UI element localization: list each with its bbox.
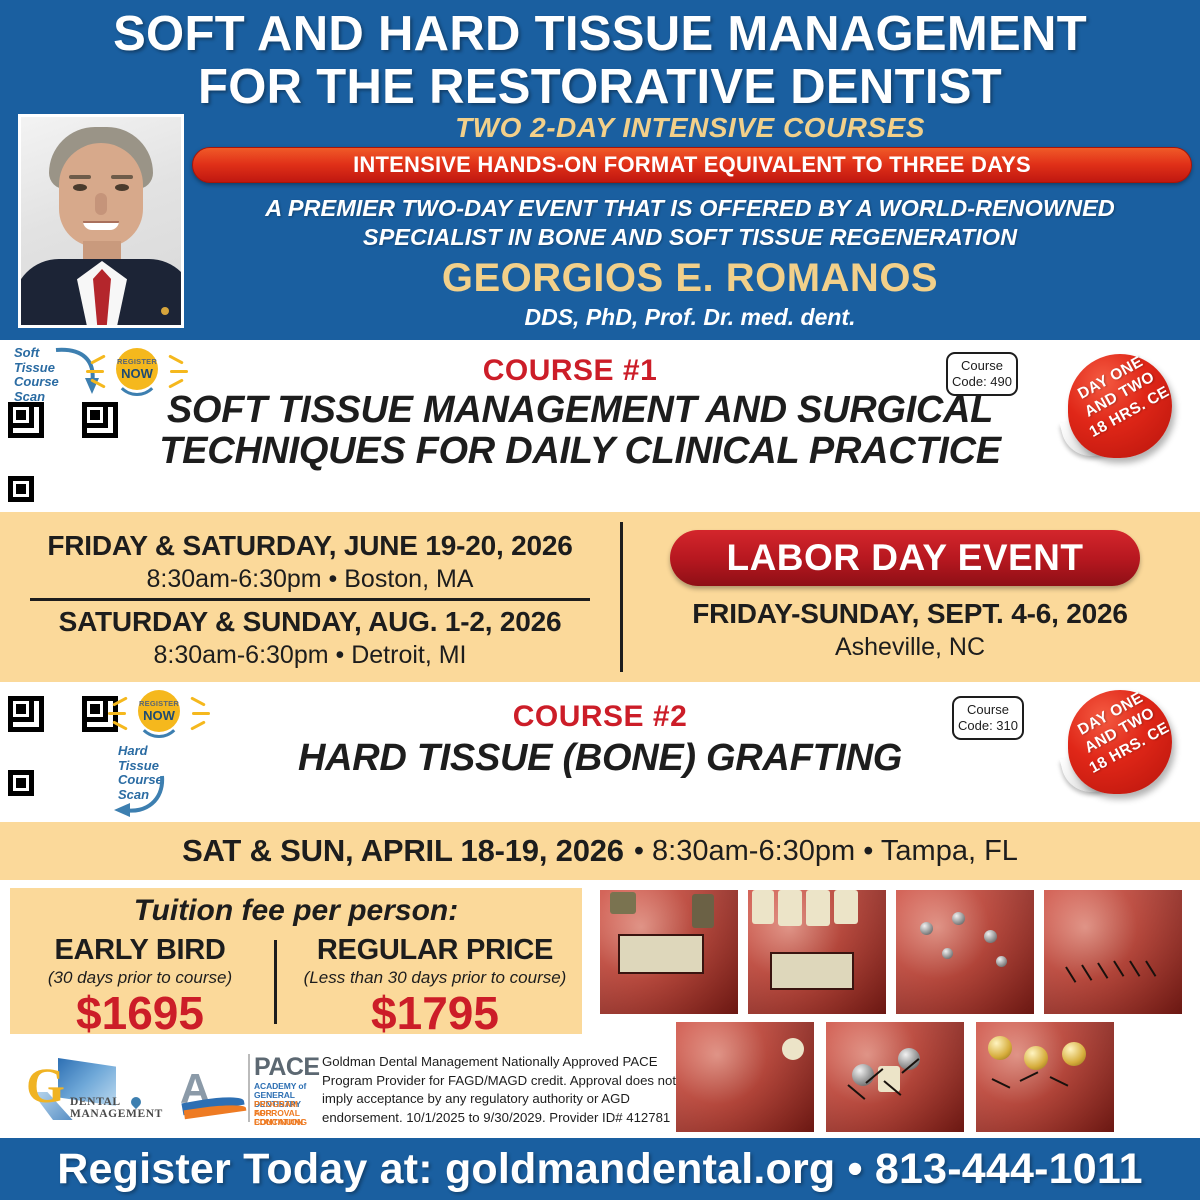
qr-matrix [8,696,108,796]
photo-tooth [752,890,774,924]
badge-swoosh [136,712,182,738]
photo-abutment [988,1036,1012,1060]
course-2-code-value: Code: 310 [958,718,1018,734]
pace-title: PACE [254,1055,320,1080]
register-today-bar[interactable]: Register Today at: goldmandental.org • 8… [0,1138,1200,1200]
pace-line-5: EDUCATION [254,1118,303,1127]
pace-divider [248,1054,250,1122]
speaker-name: GEORGIOS E. ROMANOS [190,256,1190,301]
early-bird-amount: $1695 [10,986,270,1040]
hands-on-format-badge: INTENSIVE HANDS-ON FORMAT EQUIVALENT TO … [192,147,1192,183]
regular-price-amount: $1795 [288,986,582,1040]
photo-fixation-screw [984,930,997,943]
course-2-code-box: Course Code: 310 [952,696,1024,740]
dates-divider-vertical [620,522,623,672]
photo-tooth [610,892,636,914]
date-entry-boston: FRIDAY & SATURDAY, JUNE 19-20, 2026 8:30… [0,530,620,594]
date-heading: FRIDAY & SATURDAY, JUNE 19-20, 2026 [0,530,620,562]
logo-letter-g: G [26,1060,65,1110]
register-label: REGISTER [117,358,157,366]
badge-ray [190,696,206,706]
labor-day-event-badge: LABOR DAY EVENT [670,530,1140,586]
tuition-title: Tuition fee per person: [10,894,582,928]
photo-brow-left [69,175,91,179]
qr-finder-core [90,704,100,714]
date-entry-detroit: SATURDAY & SUNDAY, AUG. 1-2, 2026 8:30am… [0,606,620,670]
photo-fixation-screw [996,956,1007,967]
photo-mouth [83,221,119,230]
photo-bone-graft [618,934,704,974]
photo-shading [896,890,1034,1014]
speaker-credentials: DDS, PhD, Prof. Dr. med. dent. [190,304,1190,331]
pace-logo: A PACE ACADEMY of GENERAL DENTISTRY PROG… [180,1054,312,1124]
flyer-root: SOFT AND HARD TISSUE MANAGEMENT FOR THE … [0,0,1200,1200]
goldman-dental-logo: G DENTAL MANAGEMENT [14,1056,164,1122]
clinical-photo-2 [748,890,886,1014]
date-detail: Asheville, NC [640,633,1180,662]
date-detail: • 8:30am-6:30pm • Tampa, FL [634,835,1018,868]
price-divider [274,940,277,1024]
photo-abutment [1024,1046,1048,1070]
photo-eye-right [115,184,129,191]
course-1-code-box: Course Code: 490 [946,352,1018,396]
date-detail: 8:30am-6:30pm • Detroit, MI [0,641,620,670]
course-2-ce-sticker: DAY ONE AND TWO 18 HRS. CE [1062,688,1180,812]
date-heading: SAT & SUN, APRIL 18-19, 2026 [182,833,624,869]
page-title: SOFT AND HARD TISSUE MANAGEMENT FOR THE … [0,8,1200,114]
early-bird-label: EARLY BIRD [10,934,270,967]
qr-finder-core [16,484,26,494]
photo-eye-left [73,184,87,191]
clinical-photo-4 [1044,890,1182,1014]
header-banner: SOFT AND HARD TISSUE MANAGEMENT FOR THE … [0,0,1200,340]
photo-tooth [782,1038,804,1060]
photo-fixation-screw [942,948,953,959]
regular-price-note: (Less than 30 days prior to course) [288,968,582,988]
photo-bone-graft [770,952,854,990]
course-2-section: REGISTER NOW Hard Tissue Course Scan COU… [0,682,1200,822]
photo-tooth [692,894,714,928]
header-subtitle: TWO 2-DAY INTENSIVE COURSES [190,112,1190,144]
course-2-code-label: Course [967,702,1009,718]
photo-lapel-pin [161,307,169,315]
course-2-qr-code[interactable] [8,696,108,796]
premier-text-line-1: A PREMIER TWO-DAY EVENT THAT IS OFFERED … [190,195,1190,222]
early-bird-price-block: EARLY BIRD (30 days prior to course) $16… [10,934,270,1040]
course-2-scan-arrow-icon [110,774,166,820]
course-1-dates-band: FRIDAY & SATURDAY, JUNE 19-20, 2026 8:30… [0,512,1200,682]
title-line-2: FOR THE RESTORATIVE DENTIST [0,61,1200,114]
photo-shading [1044,890,1182,1014]
photo-brow-right [111,175,133,179]
course-2-dates-band: SAT & SUN, APRIL 18-19, 2026 • 8:30am-6:… [0,822,1200,880]
qr-finder-core [16,778,26,788]
clinical-photo-7 [976,1022,1114,1132]
photo-implant [852,1064,874,1086]
course-1-number: COURSE #1 [200,354,940,388]
dates-divider-horizontal [30,598,590,601]
photo-fixation-screw [952,912,965,925]
badge-ray [168,354,184,364]
date-heading: SATURDAY & SUNDAY, AUG. 1-2, 2026 [0,606,620,638]
qr-finder-core [16,704,26,714]
register-label: REGISTER [139,700,179,708]
early-bird-note: (30 days prior to course) [10,968,270,988]
date-detail: 8:30am-6:30pm • Boston, MA [0,565,620,594]
logo-text-dental: DENTAL [70,1096,121,1108]
photo-abutment [1062,1042,1086,1066]
photo-tooth [834,890,858,924]
photo-fixation-screw [920,922,933,935]
clinical-photo-6 [826,1022,964,1132]
clinical-photo-3 [896,890,1034,1014]
photo-tooth [778,890,802,926]
tuition-card: Tuition fee per person: EARLY BIRD (30 d… [10,888,582,1034]
logo-tooth-icon [129,1095,143,1109]
date-entry-asheville: FRIDAY-SUNDAY, SEPT. 4-6, 2026 Asheville… [640,598,1180,662]
course-2-date-line: SAT & SUN, APRIL 18-19, 2026 • 8:30am-6:… [0,822,1200,880]
course-1-section: Soft Tissue Course Scan REGISTER NOW [0,340,1200,512]
course-2-title: HARD TISSUE (BONE) GRAFTING [240,738,960,779]
course-1-title: SOFT TISSUE MANAGEMENT AND SURGICAL TECH… [150,390,1010,472]
photo-nose [95,193,107,215]
premier-text-line-2: SPECIALIST IN BONE AND SOFT TISSUE REGEN… [190,224,1190,251]
course-1-code-label: Course [961,358,1003,374]
badge-ray [168,378,184,388]
course-1-title-line-1: SOFT TISSUE MANAGEMENT AND SURGICAL [150,390,1010,431]
qr-matrix [8,402,108,502]
course-2-number: COURSE #2 [240,700,960,734]
course-1-code-value: Code: 490 [952,374,1012,390]
regular-price-block: REGULAR PRICE (Less than 30 days prior t… [288,934,582,1040]
badge-ray [190,720,206,730]
badge-ray [170,370,188,373]
regular-price-label: REGULAR PRICE [288,934,582,967]
date-heading: FRIDAY-SUNDAY, SEPT. 4-6, 2026 [640,598,1180,630]
speaker-photo [18,114,184,328]
title-line-1: SOFT AND HARD TISSUE MANAGEMENT [113,7,1087,61]
badge-ray [192,712,210,715]
pace-disclaimer: Goldman Dental Management Nationally App… [322,1053,680,1128]
badge-ray [86,370,104,373]
clinical-photo-1 [600,890,738,1014]
course-1-ce-sticker: DAY ONE AND TWO 18 HRS. CE [1062,352,1180,476]
photo-tooth [806,890,830,926]
qr-finder-core [90,410,100,420]
course-1-qr-code[interactable] [8,402,108,502]
logo-text-management: MANAGEMENT [70,1108,163,1120]
course-1-title-line-2: TECHNIQUES FOR DAILY CLINICAL PRACTICE [150,431,1010,472]
clinical-photo-5 [676,1022,814,1132]
badge-ray [108,712,126,715]
course-2-register-now-badge[interactable]: REGISTER NOW [128,686,190,748]
qr-finder-core [16,410,26,420]
